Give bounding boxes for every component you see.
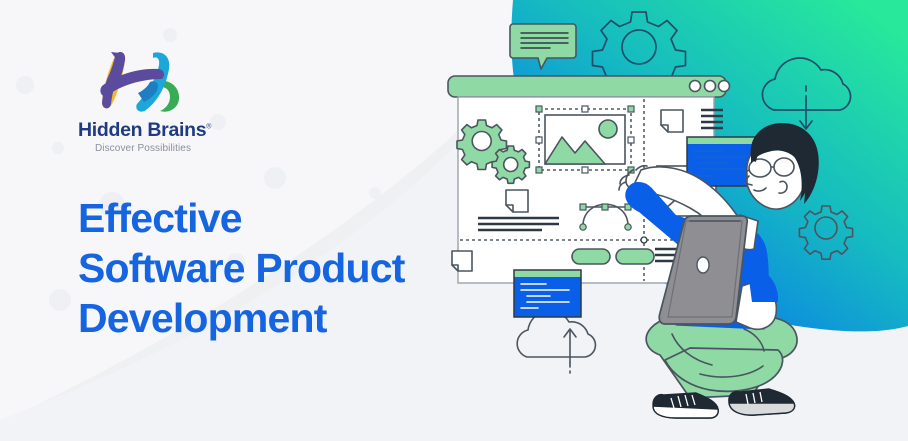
shoe — [729, 389, 795, 415]
small-gear-icon — [799, 206, 852, 259]
pill-button-shape[interactable] — [572, 249, 610, 264]
page-title: Effective Software Product Development — [78, 193, 405, 343]
brand-name-text: Hidden Brains — [78, 119, 206, 141]
window-titlebar — [448, 76, 730, 97]
pill-button-shape[interactable] — [616, 249, 654, 264]
brand-name: Hidden Brains® — [78, 119, 208, 142]
note-icon — [452, 251, 472, 271]
brand-logo[interactable]: Hidden Brains® Discover Possibilities — [78, 44, 208, 154]
image-placeholder-icon — [539, 109, 631, 170]
hidden-brains-h-monogram-icon — [78, 44, 208, 116]
headline-line-3: Development — [78, 293, 405, 343]
headline-line-1: Effective — [78, 193, 405, 243]
cloud-upload-icon — [517, 311, 595, 373]
headline-line-2: Software Product — [78, 243, 405, 293]
note-icon — [661, 110, 683, 132]
promotional-banner: .ln { fill:none; stroke:#4a5560; stroke-… — [0, 0, 908, 441]
speech-bubble-icon — [510, 24, 576, 69]
trademark-symbol: ® — [206, 124, 211, 131]
cloud-download-icon — [762, 58, 850, 129]
brand-tagline: Discover Possibilities — [78, 143, 208, 154]
code-window-icon — [514, 270, 581, 317]
note-icon — [506, 190, 528, 212]
